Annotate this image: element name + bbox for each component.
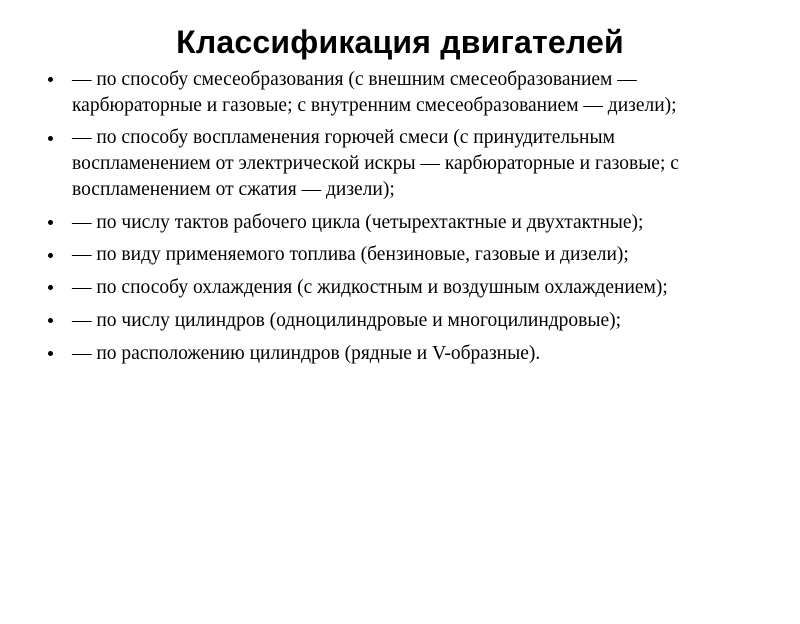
page-title: Классификация двигателей <box>0 24 800 61</box>
bullet-dot-icon <box>48 318 53 323</box>
bullet-list: — по способу смесеобразования (с внешним… <box>0 67 800 366</box>
list-item-text: — по способу воспламенения горючей смеси… <box>72 125 752 202</box>
list-item: — по числу цилиндров (одноцилиндровые и … <box>40 308 752 334</box>
list-item: — по расположению цилиндров (рядные и V-… <box>40 341 752 367</box>
bullet-dot-icon <box>48 285 53 290</box>
bullet-dot-icon <box>48 77 53 82</box>
list-item-text: — по числу цилиндров (одноцилиндровые и … <box>72 308 752 334</box>
list-item: — по способу воспламенения горючей смеси… <box>40 125 752 202</box>
list-item: — по способу охлаждения (с жидкостным и … <box>40 275 752 301</box>
list-item-text: — по способу охлаждения (с жидкостным и … <box>72 275 752 301</box>
list-item: — по виду применяемого топлива (бензинов… <box>40 242 752 268</box>
list-item-text: — по расположению цилиндров (рядные и V-… <box>72 341 752 367</box>
bullet-dot-icon <box>48 253 53 258</box>
list-item-text: — по числу тактов рабочего цикла (четыре… <box>72 210 752 236</box>
bullet-dot-icon <box>48 220 53 225</box>
bullet-dot-icon <box>48 351 53 356</box>
slide: Классификация двигателей — по способу см… <box>0 24 800 624</box>
list-item: — по способу смесеобразования (с внешним… <box>40 67 752 118</box>
list-item-text: — по способу смесеобразования (с внешним… <box>72 67 752 118</box>
list-item-text: — по виду применяемого топлива (бензинов… <box>72 242 752 268</box>
bullet-dot-icon <box>48 136 53 141</box>
list-item: — по числу тактов рабочего цикла (четыре… <box>40 210 752 236</box>
